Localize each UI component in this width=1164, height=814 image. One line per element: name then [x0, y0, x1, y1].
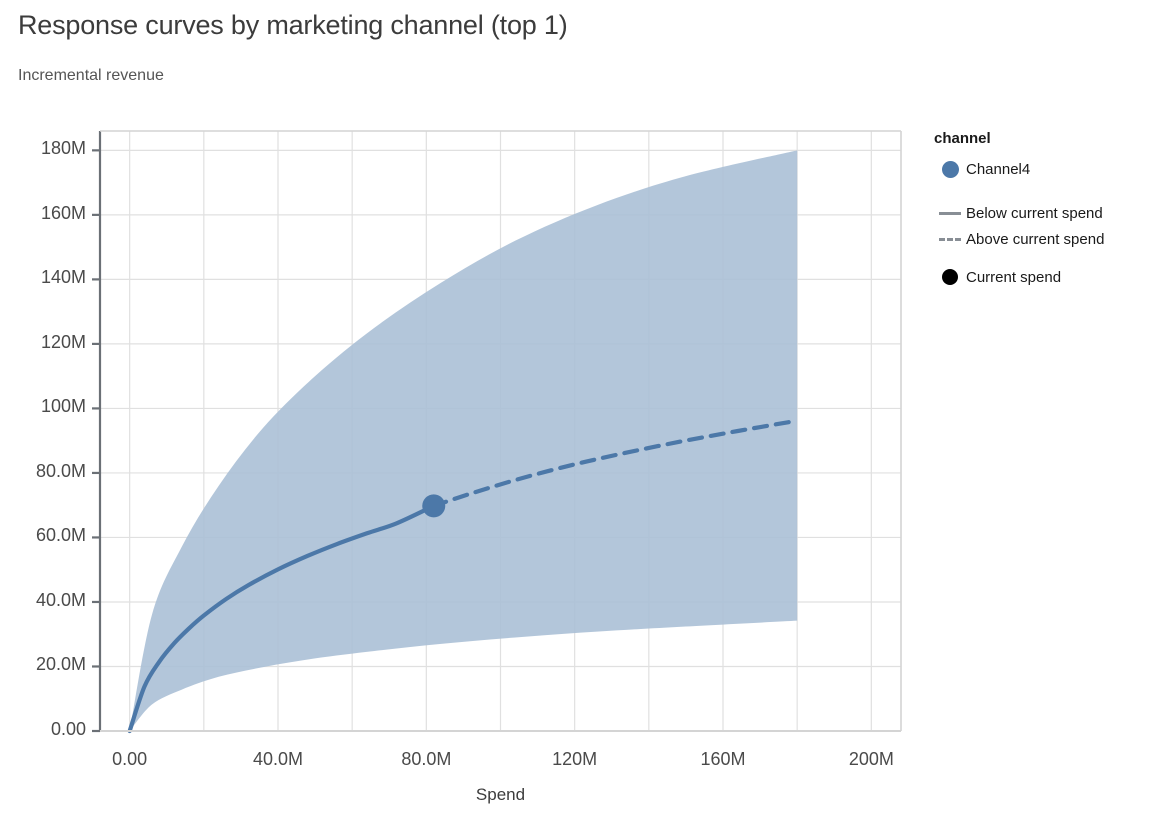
filled-circle-icon	[934, 161, 966, 178]
y-axis-tick-label: 140M	[41, 267, 86, 288]
uncertainty-band	[130, 150, 798, 731]
chart-legend: channel Channel4 Below current spend Abo…	[934, 130, 1164, 291]
solid-line-icon	[934, 212, 966, 215]
y-axis-tick-label: 20.0M	[36, 654, 86, 675]
legend-item-label: Current spend	[966, 269, 1061, 286]
x-axis-title: Spend	[401, 785, 601, 805]
y-axis-tick-label: 100M	[41, 396, 86, 417]
x-axis-tick-label: 120M	[505, 749, 645, 770]
y-axis-tick-label: 80.0M	[36, 461, 86, 482]
current-spend-marker[interactable]	[422, 494, 445, 517]
legend-item-above-current-spend[interactable]: Above current spend	[934, 227, 1164, 251]
legend-item-label: Below current spend	[966, 205, 1103, 222]
y-axis-tick-label: 120M	[41, 332, 86, 353]
x-axis-tick-label: 0.00	[60, 749, 200, 770]
legend-item-below-current-spend[interactable]: Below current spend	[934, 201, 1164, 225]
legend-spacer	[934, 183, 1164, 201]
y-axis-tick-label: 60.0M	[36, 525, 86, 546]
x-axis-tick-label: 160M	[653, 749, 793, 770]
legend-item-label: Above current spend	[966, 231, 1104, 248]
y-axis-tick-label: 180M	[41, 138, 86, 159]
y-axis-tick-label: 160M	[41, 203, 86, 224]
legend-item-channel4[interactable]: Channel4	[934, 157, 1164, 181]
y-axis-tick-label: 40.0M	[36, 590, 86, 611]
legend-item-current-spend[interactable]: Current spend	[934, 265, 1164, 289]
y-axis-tick-label: 0.00	[51, 719, 86, 740]
filled-circle-icon	[934, 269, 966, 285]
x-axis-tick-label: 40.0M	[208, 749, 348, 770]
response-curve-chart: 0.0020.0M40.0M60.0M80.0M100M120M140M160M…	[0, 0, 1164, 814]
legend-spacer	[934, 253, 1164, 265]
legend-title: channel	[934, 130, 1164, 147]
x-axis-tick-label: 200M	[801, 749, 941, 770]
x-axis-tick-label: 80.0M	[356, 749, 496, 770]
chart-canvas	[0, 0, 1164, 814]
dashed-line-icon	[934, 238, 966, 241]
legend-item-label: Channel4	[966, 161, 1030, 178]
